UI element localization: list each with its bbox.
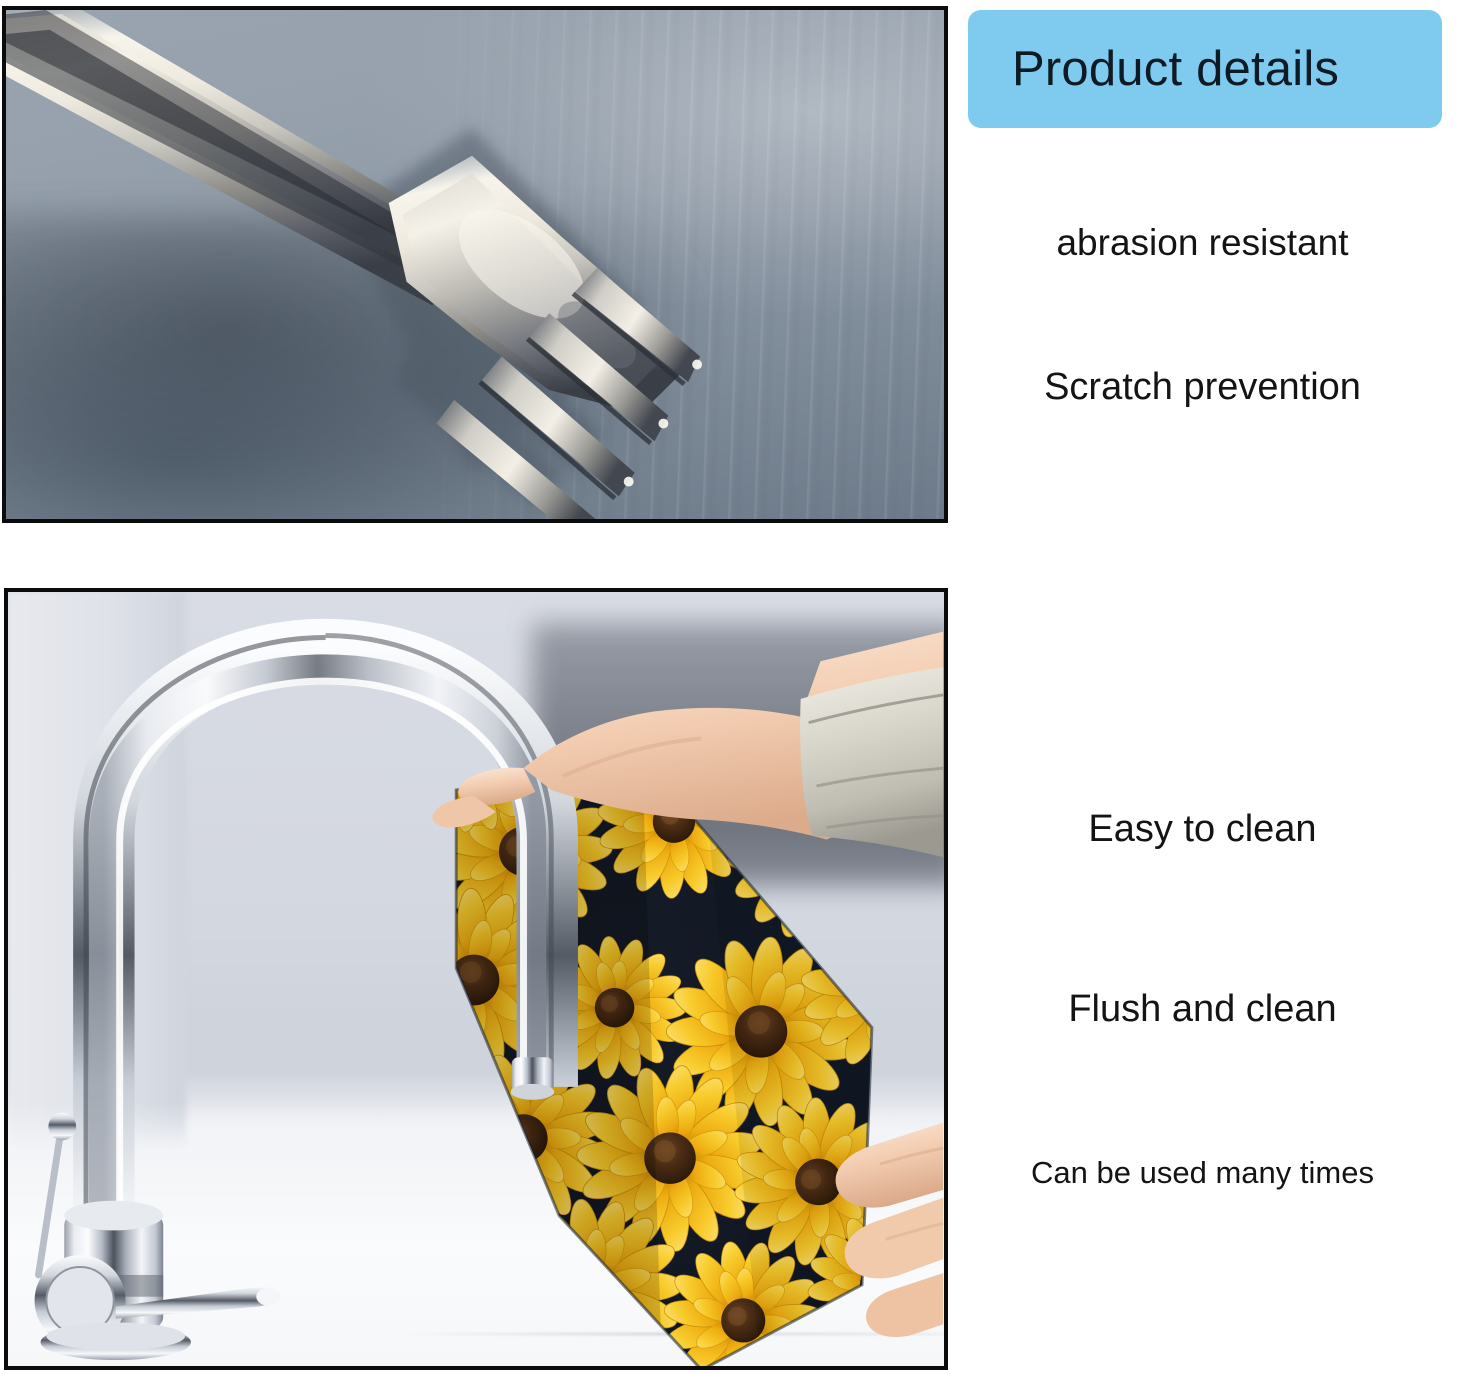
- feature-flush-and-clean: Flush and clean: [948, 988, 1457, 1031]
- hands-holding-mat: [8, 592, 944, 1366]
- product-details-badge: Product details: [968, 10, 1442, 128]
- feature-can-be-used-many-times: Can be used many times: [948, 1155, 1457, 1191]
- features-column: Product details abrasion resistant Scrat…: [948, 0, 1457, 1374]
- feature-easy-to-clean: Easy to clean: [948, 808, 1457, 851]
- product-detail-infographic: Product details abrasion resistant Scrat…: [0, 0, 1457, 1374]
- photo-fork-on-grey-surface: [2, 6, 948, 523]
- product-details-title: Product details: [968, 41, 1339, 97]
- photo-faucet-with-sunflower-mat: [4, 588, 948, 1370]
- feature-abrasion-resistant: abrasion resistant: [948, 222, 1457, 264]
- fork-illustration: [6, 10, 944, 519]
- feature-scratch-prevention: Scratch prevention: [948, 366, 1457, 409]
